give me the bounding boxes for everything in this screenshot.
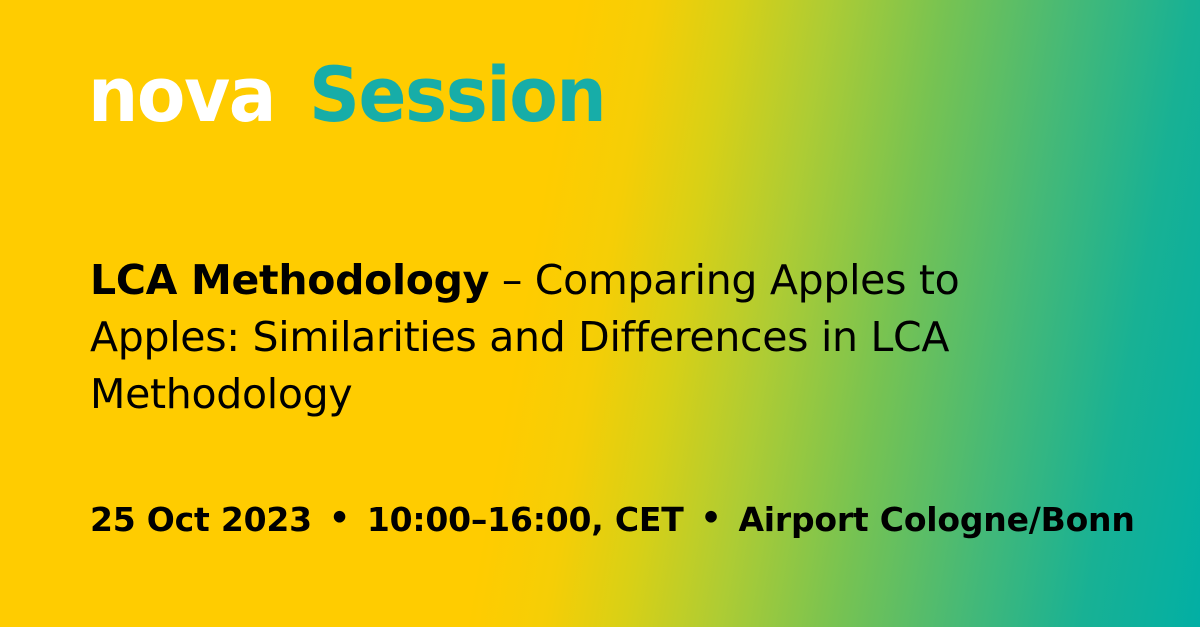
logo-word-nova: nova [88, 57, 275, 133]
bullet-separator-icon: • [701, 501, 722, 534]
bullet-separator-icon: • [329, 501, 350, 534]
event-title-dash: – [489, 256, 535, 304]
event-title: LCA Methodology – Comparing Apples to Ap… [90, 252, 1050, 423]
logo-word-session: Session [309, 57, 605, 133]
nova-session-logo: nova Session [88, 57, 628, 133]
event-title-emphasis: LCA Methodology [90, 256, 489, 304]
event-details: 25 Oct 2023 • 10:00–16:00, CET • Airport… [90, 500, 1135, 539]
event-time: 10:00–16:00, CET [367, 500, 684, 539]
event-location: Airport Cologne/Bonn [738, 500, 1134, 539]
event-banner: nova Session LCA Methodology – Comparing… [0, 0, 1200, 627]
event-date: 25 Oct 2023 [90, 500, 312, 539]
